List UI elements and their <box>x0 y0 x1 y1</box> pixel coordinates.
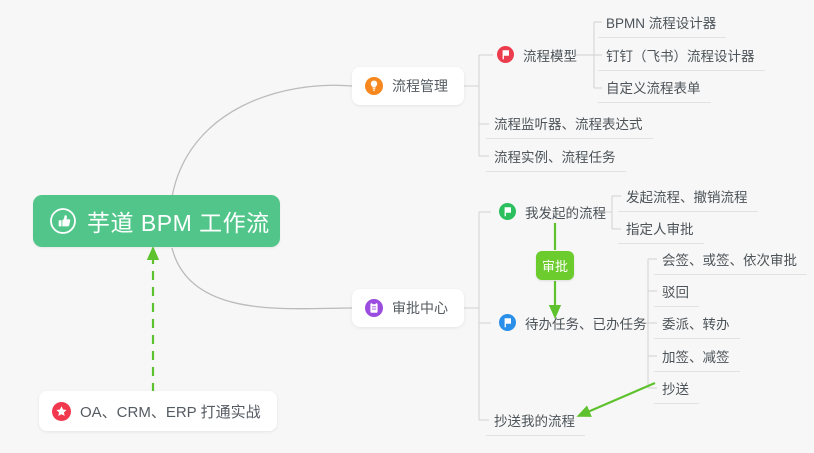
node-process-instance[interactable]: 流程实例、流程任务 <box>486 141 626 172</box>
node-designated-approver[interactable]: 指定人审批 <box>618 213 704 244</box>
node-bpmn-designer-label: BPMN 流程设计器 <box>606 12 716 32</box>
mindmap-canvas: 芋道 BPM 工作流 流程管理 流程模型 BPMN 流程设计器 钉钉（飞书）流程… <box>0 0 814 453</box>
node-cc-label: 抄送 <box>662 378 689 398</box>
thumbs-up-circle-icon <box>50 208 76 234</box>
flag-green-icon <box>499 203 516 220</box>
node-process-management[interactable]: 流程管理 <box>352 67 464 105</box>
node-reject-label: 驳回 <box>662 281 689 301</box>
arrow-cc-to-cc-to-me <box>583 383 655 414</box>
node-add-remove-sign[interactable]: 加签、减签 <box>654 341 740 372</box>
node-my-initiated-process[interactable]: 我发起的流程 <box>491 196 616 227</box>
node-cc-to-me-process[interactable]: 抄送我的流程 <box>486 405 585 436</box>
flag-red-icon <box>497 46 514 63</box>
node-process-model-label: 流程模型 <box>523 45 577 65</box>
node-designated-approver-label: 指定人审批 <box>626 218 694 238</box>
star-red-icon <box>52 402 71 421</box>
node-bpmn-designer[interactable]: BPMN 流程设计器 <box>598 7 726 38</box>
node-cc-to-me-process-label: 抄送我的流程 <box>494 410 575 430</box>
node-integration-practice[interactable]: OA、CRM、ERP 打通实战 <box>39 391 277 431</box>
node-process-listener[interactable]: 流程监听器、流程表达式 <box>486 108 653 139</box>
approval-badge[interactable]: 审批 <box>536 251 574 280</box>
node-delegate-transfer[interactable]: 委派、转办 <box>654 308 740 339</box>
node-approval-center-label: 审批中心 <box>392 298 448 318</box>
node-reject[interactable]: 驳回 <box>654 276 699 307</box>
node-delegate-transfer-label: 委派、转办 <box>662 313 730 333</box>
node-approval-center[interactable]: 审批中心 <box>352 289 464 327</box>
node-process-model[interactable]: 流程模型 <box>489 39 587 70</box>
node-add-remove-sign-label: 加签、减签 <box>662 346 730 366</box>
node-dingtalk-feishu-designer-label: 钉钉（飞书）流程设计器 <box>606 45 755 65</box>
node-process-management-label: 流程管理 <box>392 76 448 96</box>
root-node-label: 芋道 BPM 工作流 <box>87 204 270 238</box>
node-countersign-label: 会签、或签、依次审批 <box>662 249 797 269</box>
node-my-initiated-process-label: 我发起的流程 <box>525 202 606 222</box>
lightbulb-icon <box>365 77 383 95</box>
edge-root-to-approval-center <box>172 248 352 309</box>
node-dingtalk-feishu-designer[interactable]: 钉钉（飞书）流程设计器 <box>598 40 765 71</box>
node-todo-done-tasks-label: 待办任务、已办任务 <box>525 313 647 333</box>
node-cc[interactable]: 抄送 <box>654 373 699 404</box>
node-start-cancel-process-label: 发起流程、撤销流程 <box>626 186 748 206</box>
node-process-listener-label: 流程监听器、流程表达式 <box>494 113 643 133</box>
node-custom-process-form[interactable]: 自定义流程表单 <box>598 72 711 103</box>
flag-blue-icon <box>499 314 516 331</box>
clipboard-purple-icon <box>365 299 383 317</box>
node-start-cancel-process[interactable]: 发起流程、撤销流程 <box>618 181 758 212</box>
node-process-instance-label: 流程实例、流程任务 <box>494 146 616 166</box>
approval-badge-label: 审批 <box>542 256 568 275</box>
node-todo-done-tasks[interactable]: 待办任务、已办任务 <box>491 307 657 338</box>
edge-root-to-process-management <box>172 85 352 197</box>
node-countersign[interactable]: 会签、或签、依次审批 <box>654 244 807 275</box>
root-node[interactable]: 芋道 BPM 工作流 <box>33 195 280 247</box>
node-custom-process-form-label: 自定义流程表单 <box>606 77 701 97</box>
node-integration-practice-label: OA、CRM、ERP 打通实战 <box>80 401 261 422</box>
